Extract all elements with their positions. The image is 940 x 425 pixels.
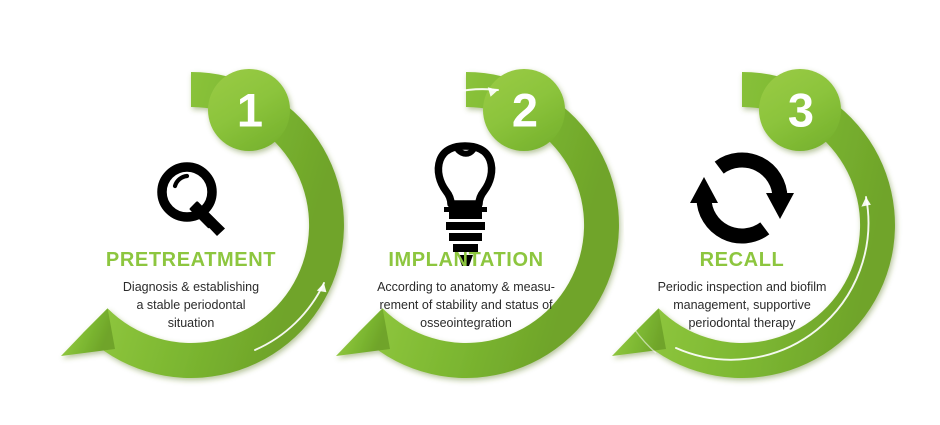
- step-3-ring-group: 3: [608, 69, 895, 378]
- step-1-badge-number: 1: [237, 84, 263, 137]
- infographic-canvas: 3 2 1: [0, 0, 940, 425]
- magnifier-icon: [162, 167, 225, 236]
- process-infographic: 3 2 1: [0, 0, 940, 425]
- step-1-ring-group: 1: [61, 69, 344, 378]
- step-3-badge-number: 3: [788, 84, 814, 137]
- step-2-arrowhead: [336, 308, 390, 356]
- step-1-arrowhead: [61, 308, 115, 356]
- dental-implant-icon: [438, 146, 491, 266]
- refresh-cycle-icon: [690, 160, 794, 236]
- step-2-badge-number: 2: [512, 84, 538, 137]
- step-1-ring-shape: [61, 69, 344, 378]
- step-1-ring-hairline: [88, 94, 156, 178]
- step-3-ring-shape: [612, 69, 895, 378]
- step-3-arrowhead: [612, 308, 666, 356]
- step-2-ring-hairline: [342, 103, 392, 182]
